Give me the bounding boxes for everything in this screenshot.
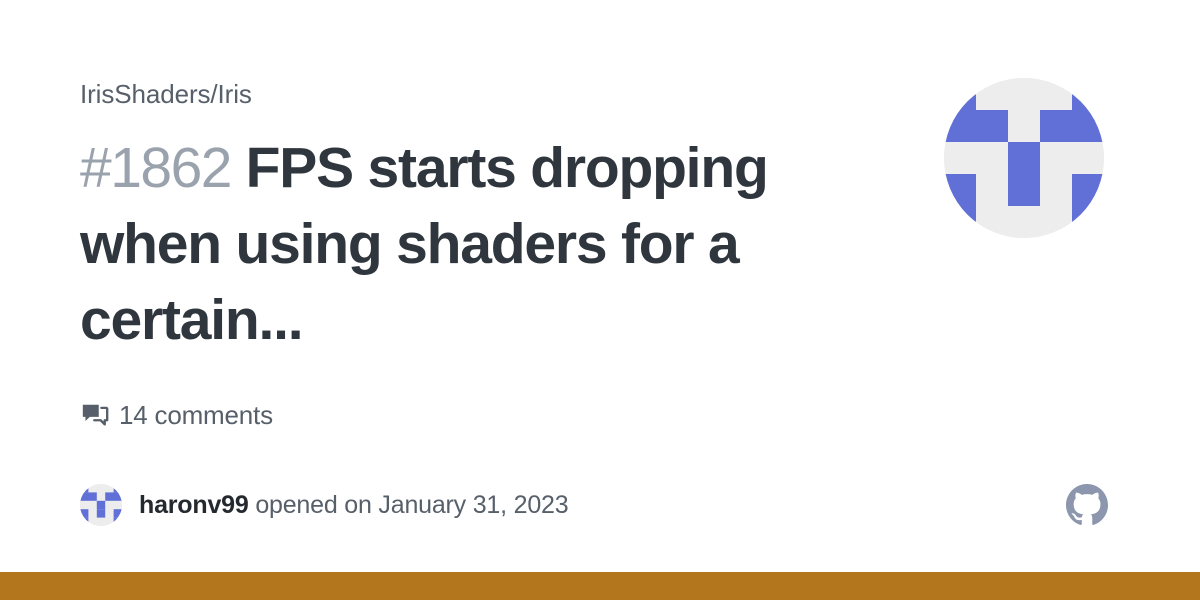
byline-text: haronv99 opened on January 31, 2023: [139, 489, 568, 521]
issue-header: IrisShaders/Iris #1862 FPS starts droppi…: [80, 78, 900, 358]
comment-discussion-icon: [80, 400, 110, 430]
github-mark-icon: [1066, 484, 1108, 526]
repository-name[interactable]: IrisShaders/Iris: [80, 78, 900, 110]
issue-opened-meta: opened on January 31, 2023: [255, 491, 568, 519]
issue-title[interactable]: #1862 FPS starts dropping when using sha…: [80, 130, 780, 358]
github-issue-preview-card: IrisShaders/Iris #1862 FPS starts droppi…: [0, 0, 1200, 600]
avatar[interactable]: [80, 484, 122, 526]
identicon-avatar-large: [944, 78, 1104, 238]
accent-bar: [0, 572, 1200, 600]
repository-owner-avatar[interactable]: [944, 78, 1104, 238]
comments-count-label: 14 comments: [119, 400, 273, 430]
issue-number: #1862: [80, 136, 231, 200]
author-username[interactable]: haronv99: [139, 491, 249, 519]
identicon-avatar-small: [80, 484, 122, 526]
issue-byline: haronv99 opened on January 31, 2023: [80, 484, 568, 526]
comments-summary[interactable]: 14 comments: [80, 400, 273, 430]
